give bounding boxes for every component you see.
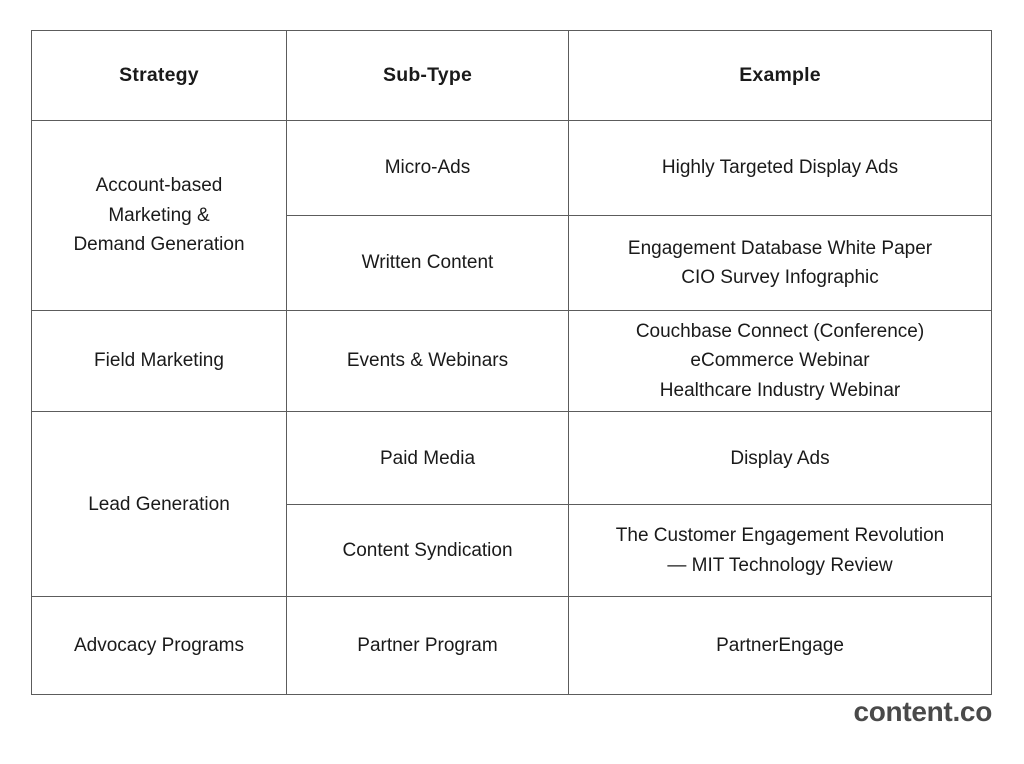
strategy-line: Field Marketing — [42, 346, 276, 375]
strategy-line: Demand Generation — [42, 230, 276, 259]
strategy-line: Lead Generation — [42, 490, 276, 519]
table-row: Lead Generation Paid Media Display Ads — [32, 412, 992, 505]
table-body: Account-based Marketing & Demand Generat… — [32, 121, 992, 695]
strategy-cell-account-based-marketing: Account-based Marketing & Demand Generat… — [32, 121, 287, 311]
subtype-cell-content-syndication: Content Syndication — [287, 505, 569, 597]
strategy-cell-advocacy-programs: Advocacy Programs — [32, 597, 287, 695]
example-line: Highly Targeted Display Ads — [579, 153, 981, 182]
strategy-cell-field-marketing: Field Marketing — [32, 311, 287, 412]
strategy-cell-lead-generation: Lead Generation — [32, 412, 287, 597]
example-line: Healthcare Industry Webinar — [579, 376, 981, 405]
document-page: Strategy Sub-Type Example Account-based … — [0, 0, 1024, 764]
subtype-cell-micro-ads: Micro-Ads — [287, 121, 569, 216]
example-line: PartnerEngage — [579, 631, 981, 660]
column-header-sub-type: Sub-Type — [287, 31, 569, 121]
example-cell-written-content: Engagement Database White Paper CIO Surv… — [569, 216, 992, 311]
example-line: — MIT Technology Review — [579, 551, 981, 580]
example-line: Engagement Database White Paper — [579, 234, 981, 263]
strategy-line: Account-based — [42, 171, 276, 200]
example-line: Couchbase Connect (Conference) — [579, 317, 981, 346]
table-header-row: Strategy Sub-Type Example — [32, 31, 992, 121]
strategy-matrix-table: Strategy Sub-Type Example Account-based … — [31, 30, 992, 695]
subtype-cell-partner-program: Partner Program — [287, 597, 569, 695]
example-cell-events-webinars: Couchbase Connect (Conference) eCommerce… — [569, 311, 992, 412]
example-cell-content-syndication: The Customer Engagement Revolution — MIT… — [569, 505, 992, 597]
example-line: The Customer Engagement Revolution — [579, 521, 981, 550]
table-row: Field Marketing Events & Webinars Couchb… — [32, 311, 992, 412]
subtype-cell-events-webinars: Events & Webinars — [287, 311, 569, 412]
strategy-line: Advocacy Programs — [42, 631, 276, 660]
example-cell-partner-program: PartnerEngage — [569, 597, 992, 695]
table-header: Strategy Sub-Type Example — [32, 31, 992, 121]
column-header-strategy: Strategy — [32, 31, 287, 121]
example-line: CIO Survey Infographic — [579, 263, 981, 292]
table-row: Account-based Marketing & Demand Generat… — [32, 121, 992, 216]
example-line: eCommerce Webinar — [579, 346, 981, 375]
strategy-line: Marketing & — [42, 201, 276, 230]
content-co-logo: content.co — [853, 696, 992, 728]
column-header-example: Example — [569, 31, 992, 121]
subtype-cell-written-content: Written Content — [287, 216, 569, 311]
strategy-matrix-table-wrapper: Strategy Sub-Type Example Account-based … — [31, 30, 991, 695]
example-line: Display Ads — [579, 444, 981, 473]
example-cell-paid-media: Display Ads — [569, 412, 992, 505]
example-cell-micro-ads: Highly Targeted Display Ads — [569, 121, 992, 216]
table-row: Advocacy Programs Partner Program Partne… — [32, 597, 992, 695]
subtype-cell-paid-media: Paid Media — [287, 412, 569, 505]
